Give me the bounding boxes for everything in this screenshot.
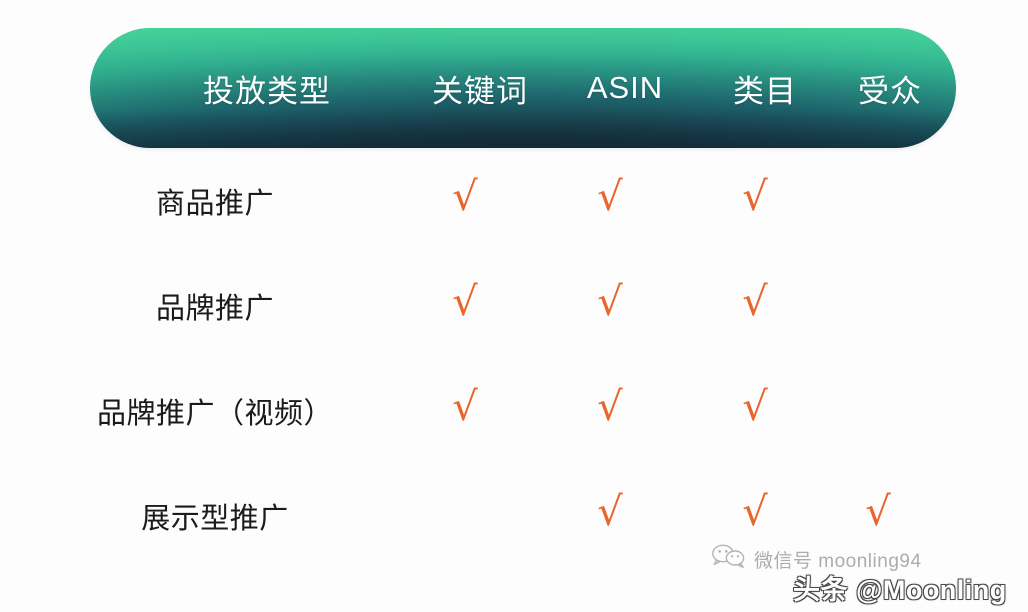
row-label-sponsored-products: 商品推广 xyxy=(40,180,390,222)
check-icon: √ xyxy=(452,177,478,217)
column-header-asin: ASIN xyxy=(550,28,700,148)
check-icon: √ xyxy=(597,492,623,532)
column-header-targeting-type: 投放类型 xyxy=(152,28,382,148)
check-icon: √ xyxy=(597,387,623,427)
wechat-icon xyxy=(712,544,746,574)
check-icon: √ xyxy=(597,282,623,322)
check-icon: √ xyxy=(742,387,768,427)
cell-category: √ xyxy=(695,174,815,228)
cell-asin: √ xyxy=(550,174,670,228)
cell-category: √ xyxy=(695,489,815,543)
row-label-sponsored-brands-video: 品牌推广（视频） xyxy=(40,390,390,432)
row-label-sponsored-brands: 品牌推广 xyxy=(40,285,390,327)
watermark-toutiao: 头条 @Moonling xyxy=(793,568,1007,607)
cell-keyword: √ xyxy=(405,279,525,333)
page-root: 投放类型 关键词 ASIN 类目 受众 商品推广 √ √ √ 品牌推广 √ xyxy=(0,0,1028,612)
cell-asin: √ xyxy=(550,279,670,333)
cell-asin: √ xyxy=(550,489,670,543)
check-icon: √ xyxy=(865,492,891,532)
cell-category: √ xyxy=(695,384,815,438)
cell-keyword: √ xyxy=(405,384,525,438)
table-header-bar: 投放类型 关键词 ASIN 类目 受众 xyxy=(90,28,956,148)
check-icon: √ xyxy=(452,387,478,427)
column-header-keyword: 关键词 xyxy=(405,28,555,148)
cell-keyword: √ xyxy=(405,174,525,228)
check-icon: √ xyxy=(742,177,768,217)
cell-audience xyxy=(818,384,938,438)
column-header-audience: 受众 xyxy=(815,28,956,148)
table-row: 商品推广 √ √ √ xyxy=(0,148,1028,253)
table-body: 商品推广 √ √ √ 品牌推广 √ √ √ xyxy=(0,148,1028,568)
cell-audience xyxy=(818,174,938,228)
table-row: 品牌推广 √ √ √ xyxy=(0,253,1028,358)
check-icon: √ xyxy=(452,282,478,322)
table-row: 品牌推广（视频） √ √ √ xyxy=(0,358,1028,463)
cell-audience: √ xyxy=(818,489,938,543)
cell-asin: √ xyxy=(550,384,670,438)
cell-audience xyxy=(818,279,938,333)
check-icon: √ xyxy=(597,177,623,217)
check-icon: √ xyxy=(742,282,768,322)
cell-category: √ xyxy=(695,279,815,333)
row-label-sponsored-display: 展示型推广 xyxy=(40,495,390,537)
cell-keyword xyxy=(405,489,525,543)
check-icon: √ xyxy=(742,492,768,532)
